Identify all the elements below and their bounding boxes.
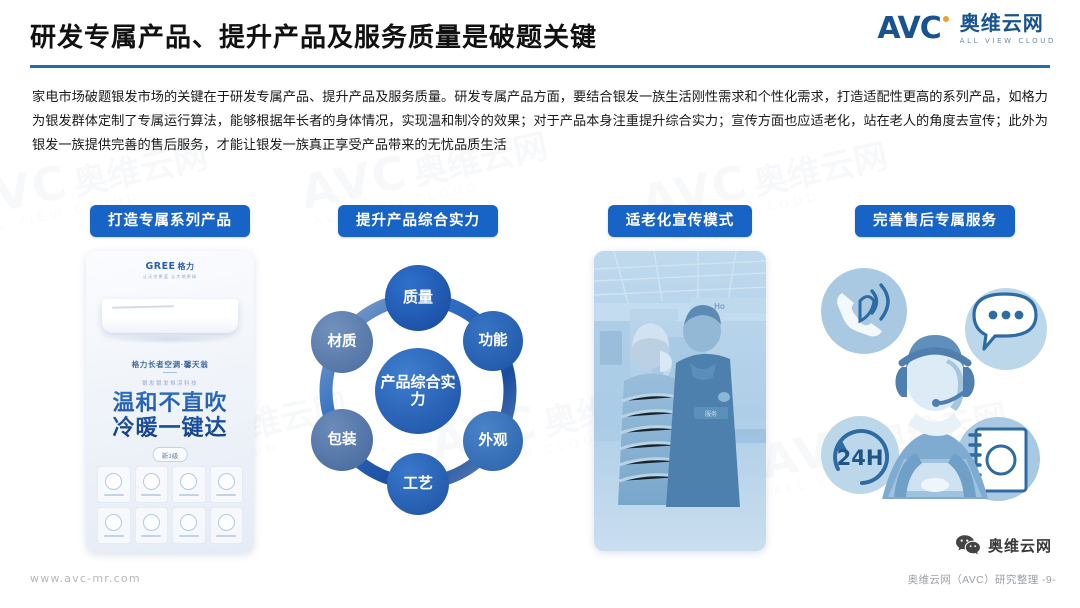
feature-label-bar bbox=[179, 535, 199, 537]
footer-website[interactable]: www.avc-mr.com bbox=[30, 572, 141, 585]
poster-headline: 温和不直吹 冷暖一键达 bbox=[86, 391, 254, 440]
feature-icon bbox=[143, 473, 160, 490]
logo-english-name: ALL VIEW CLOUD bbox=[960, 37, 1056, 45]
footer-credit: 奥维云网（AVC）研究整理 -9- bbox=[908, 572, 1056, 587]
wheel-node-quality[interactable]: 质量 bbox=[385, 265, 451, 331]
product-strength-diagram: 产品综合实力 质量 功能 外观 工艺 包装 材质 bbox=[298, 263, 538, 518]
feature-icon bbox=[105, 473, 122, 490]
gree-product-poster: GREE格力 让天空更蓝 让大地更绿 格力长者空调·馨天翁 银发银发恒凉科技 温… bbox=[86, 251, 254, 553]
feature-tile bbox=[172, 507, 206, 544]
column-after-sales-service: 完善售后专属服务 bbox=[800, 205, 1070, 575]
gree-brand-block: GREE格力 让天空更蓝 让大地更绿 bbox=[86, 261, 254, 280]
column-heading-4[interactable]: 完善售后专属服务 bbox=[855, 205, 1015, 237]
energy-grade-badge: 新1级 bbox=[153, 447, 188, 462]
logo-mark-group: AVC bbox=[877, 14, 948, 44]
air-conditioner-unit-image bbox=[102, 299, 238, 333]
wheel-node-label: 功能 bbox=[479, 333, 508, 350]
feature-tile bbox=[210, 466, 244, 503]
feature-icon bbox=[143, 514, 160, 531]
logo-avc-text: AVC bbox=[877, 14, 940, 44]
feature-tile bbox=[135, 507, 169, 544]
intro-paragraph: 家电市场破题银发市场的关键在于研发专属产品、提升产品及服务质量。研发专属产品方面… bbox=[32, 86, 1048, 158]
store-consultation-photo: Ho bbox=[594, 251, 766, 551]
column-heading-2[interactable]: 提升产品综合实力 bbox=[338, 205, 498, 237]
store-photo-svg: Ho bbox=[594, 251, 766, 551]
gree-logo: GREE格力 bbox=[86, 261, 254, 272]
wechat-account-name: 奥维云网 bbox=[988, 535, 1052, 556]
wheel-node-appearance[interactable]: 外观 bbox=[463, 411, 523, 471]
feature-icon bbox=[218, 473, 235, 490]
feature-tile bbox=[172, 466, 206, 503]
customer-service-illustration: 24H bbox=[820, 263, 1050, 513]
page-title: 研发专属产品、提升产品及服务质量是破题关键 bbox=[30, 17, 597, 54]
avc-logo: AVC 奥维云网 ALL VIEW CLOUD bbox=[877, 14, 1056, 45]
feature-icon bbox=[180, 473, 197, 490]
gree-logo-cn: 格力 bbox=[178, 262, 195, 271]
wheel-center-node: 产品综合实力 bbox=[375, 348, 461, 434]
feature-tile bbox=[97, 466, 131, 503]
wheel-node-label: 质量 bbox=[403, 289, 433, 306]
logo-dot-icon bbox=[943, 16, 949, 22]
feature-icon bbox=[180, 514, 197, 531]
feature-icon bbox=[218, 514, 235, 531]
wheel-node-packaging[interactable]: 包装 bbox=[311, 409, 373, 471]
gree-tagline: 让天空更蓝 让大地更绿 bbox=[86, 274, 254, 280]
wheel-node-label: 材质 bbox=[328, 334, 357, 351]
feature-tile bbox=[135, 466, 169, 503]
clock-badge-label: 24H bbox=[837, 446, 884, 470]
column-product-strength: 提升产品综合实力 产品综合实力 质量 功能 外观 工艺 包装 材质 bbox=[283, 205, 553, 575]
wheel-node-label: 包装 bbox=[328, 432, 357, 449]
gree-logo-en: GREE bbox=[145, 261, 175, 272]
feature-label-bar bbox=[104, 494, 124, 496]
wheel-node-function[interactable]: 功能 bbox=[463, 311, 523, 371]
service-illustration-svg: 24H bbox=[820, 263, 1050, 513]
poster-divider bbox=[163, 372, 177, 373]
poster-tech-line: 银发银发恒凉科技 bbox=[86, 379, 254, 387]
feature-label-bar bbox=[216, 494, 236, 496]
feature-label-bar bbox=[104, 535, 124, 537]
wheel-center-label: 产品综合实力 bbox=[375, 374, 461, 409]
column-exclusive-products: 打造专属系列产品 GREE格力 让天空更蓝 让大地更绿 格力长者空调·馨天翁 银… bbox=[35, 205, 305, 575]
poster-headline-line1: 温和不直吹 bbox=[86, 391, 254, 416]
air-conditioner-shadow bbox=[112, 335, 228, 344]
feature-label-bar bbox=[141, 494, 161, 496]
wechat-icon bbox=[955, 534, 981, 556]
title-divider bbox=[30, 65, 1050, 68]
logo-chinese-name: 奥维云网 bbox=[960, 14, 1056, 35]
feature-label-bar bbox=[216, 535, 236, 537]
feature-tile bbox=[97, 507, 131, 544]
columns-container: 打造专属系列产品 GREE格力 让天空更蓝 让大地更绿 格力长者空调·馨天翁 银… bbox=[0, 205, 1080, 575]
poster-headline-line2: 冷暖一键达 bbox=[86, 416, 254, 441]
logo-text-group: 奥维云网 ALL VIEW CLOUD bbox=[960, 14, 1056, 45]
phone-badge-circle bbox=[821, 268, 907, 354]
feature-tile-grid bbox=[97, 466, 243, 544]
feature-label-bar bbox=[141, 535, 161, 537]
wechat-badge: 奥维云网 bbox=[955, 534, 1052, 556]
wheel-node-craft[interactable]: 工艺 bbox=[387, 453, 449, 515]
feature-label-bar bbox=[179, 494, 199, 496]
column-senior-friendly-promotion: 适老化宣传模式 bbox=[545, 205, 815, 575]
poster-product-line: 格力长者空调·馨天翁 bbox=[86, 359, 254, 370]
feature-icon bbox=[105, 514, 122, 531]
service-agent-figure bbox=[882, 335, 988, 499]
column-heading-1[interactable]: 打造专属系列产品 bbox=[90, 205, 250, 237]
feature-tile bbox=[210, 507, 244, 544]
column-heading-3[interactable]: 适老化宣传模式 bbox=[608, 205, 753, 237]
wheel-node-material[interactable]: 材质 bbox=[311, 311, 373, 373]
wheel-node-label: 外观 bbox=[479, 433, 508, 450]
wheel-node-label: 工艺 bbox=[403, 475, 433, 492]
